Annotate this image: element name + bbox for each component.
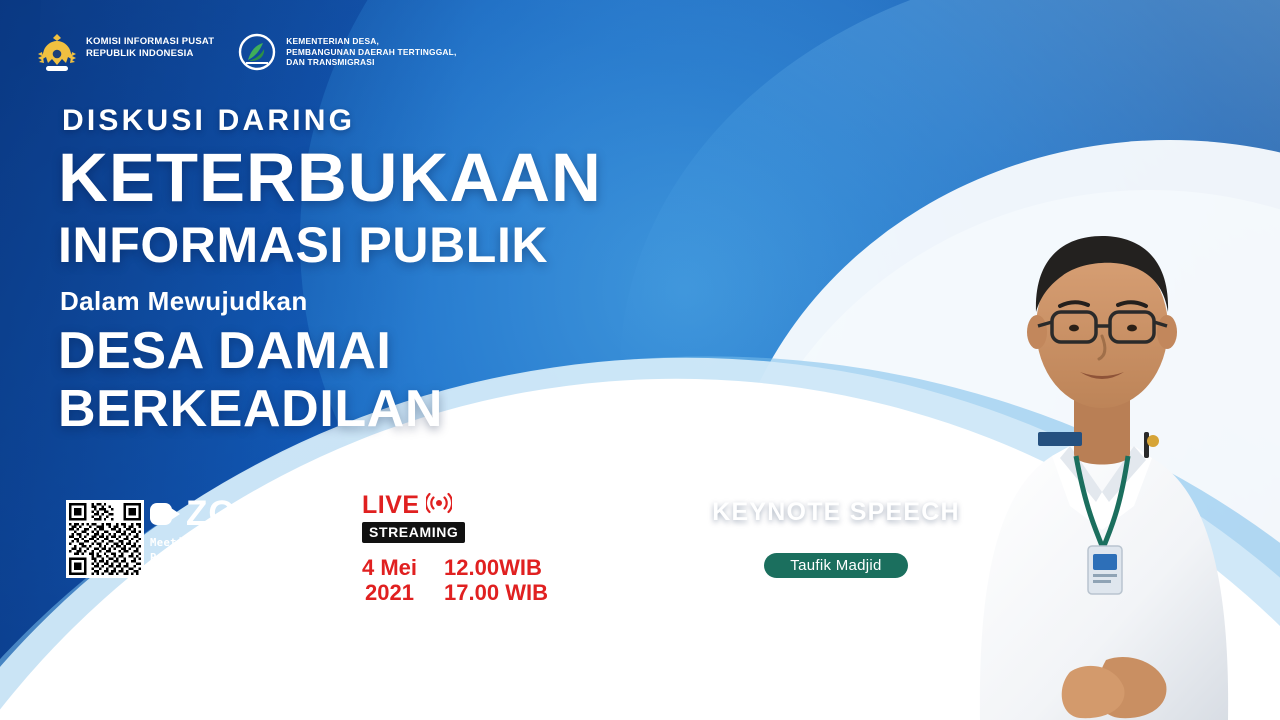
event-time: 12.00WIB 17.00 WIB [444, 555, 548, 605]
event-title-4: BERKEADILAN [58, 380, 443, 438]
zoom-info-block: ZOOM Meeting ID: 842 0104 1894 Passcode:… [150, 496, 318, 581]
event-time-end: 17.00 WIB [444, 580, 548, 605]
zoom-passcode: Passcode: 040521 [150, 551, 318, 566]
event-title-3: DESA DAMAI [58, 322, 391, 380]
qr-code-icon [69, 503, 141, 575]
streaming-badge: STREAMING [362, 522, 465, 543]
garuda-pancasila-icon [36, 30, 78, 76]
logo-kemendes-label: KEMENTERIAN DESA, PEMBANGUNAN DAERAH TER… [286, 30, 456, 68]
event-time-start: 12.00WIB [444, 555, 548, 580]
logo-row: KOMISI INFORMASI PUSAT REPUBLIK INDONESI… [36, 30, 457, 76]
event-flyer: KOMISI INFORMASI PUSAT REPUBLIK INDONESI… [0, 0, 1280, 720]
kemendes-emblem-icon [236, 30, 278, 76]
event-subtitle: Dalam Mewujudkan [60, 286, 308, 317]
event-kicker: DISKUSI DARING [62, 104, 355, 138]
zoom-brand-label: ZOOM [186, 496, 295, 531]
video-camera-icon [150, 503, 180, 525]
zoom-logo: ZOOM [150, 496, 318, 531]
streaming-row: STREAMING KEMENDES PDTT [362, 521, 647, 544]
schedule-divider [429, 554, 432, 606]
speaker-portrait [920, 60, 1280, 720]
event-title-1: KETERBUKAAN [58, 142, 602, 214]
live-label: LIVE [362, 493, 420, 518]
event-title-2: INFORMASI PUBLIK [58, 218, 548, 272]
keynote-speaker-name: Taufik Madjid [764, 553, 907, 578]
live-row: LIVE YOUTUBE : [362, 492, 647, 519]
youtube-channel-label: KEMENDES PDTT [472, 521, 647, 544]
logo-komisi-informasi-label: KOMISI INFORMASI PUSAT REPUBLIK INDONESI… [86, 30, 214, 59]
logo-komisi-informasi: KOMISI INFORMASI PUSAT REPUBLIK INDONESI… [36, 30, 214, 76]
zoom-link[interactable]: https://bit.ly/3gVIWdB [150, 566, 318, 581]
schedule-block: 4 Mei 2021 12.00WIB 17.00 WIB [362, 554, 647, 606]
zoom-details: Meeting ID: 842 0104 1894 Passcode: 0405… [150, 536, 318, 581]
live-stream-block: LIVE YOUTUBE : STREAMING KEMENDES PDTT 4… [362, 492, 647, 606]
logo-kemendes: KEMENTERIAN DESA, PEMBANGUNAN DAERAH TER… [236, 30, 456, 76]
qr-code[interactable] [66, 500, 144, 578]
platform-label: YOUTUBE : [458, 494, 569, 517]
zoom-meeting-id: Meeting ID: 842 0104 1894 [150, 536, 318, 551]
event-date-year: 2021 [362, 580, 417, 605]
event-date: 4 Mei 2021 [362, 555, 417, 605]
broadcast-icon [426, 492, 452, 519]
event-date-day: 4 Mei [362, 555, 417, 580]
